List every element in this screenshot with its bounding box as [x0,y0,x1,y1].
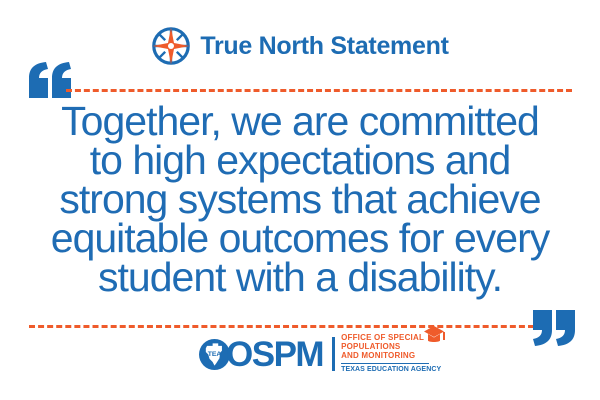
ospm-logo: TEA OSPM OFFICE OF SPECIAL POPULATIONS A… [199,333,441,375]
graduation-cap-icon [423,325,445,344]
true-north-statement-card: True North Statement Together, we are co… [0,0,600,400]
logo-inner-divider [341,363,429,364]
opening-quote-mark-icon [27,62,73,98]
page-title: True North Statement [200,34,448,59]
agency-name: Texas Education Agency [341,366,441,374]
divider-bottom [29,325,534,328]
logo-divider [332,337,335,371]
header: True North Statement [0,22,600,70]
compass-icon [151,26,191,66]
divider-top [66,89,572,92]
closing-quote-mark-icon [531,310,577,346]
quote-text: Together, we are committed to high expec… [20,102,580,297]
ospm-wordmark: OSPM [226,337,323,372]
tea-seal-label: TEA [208,351,222,358]
